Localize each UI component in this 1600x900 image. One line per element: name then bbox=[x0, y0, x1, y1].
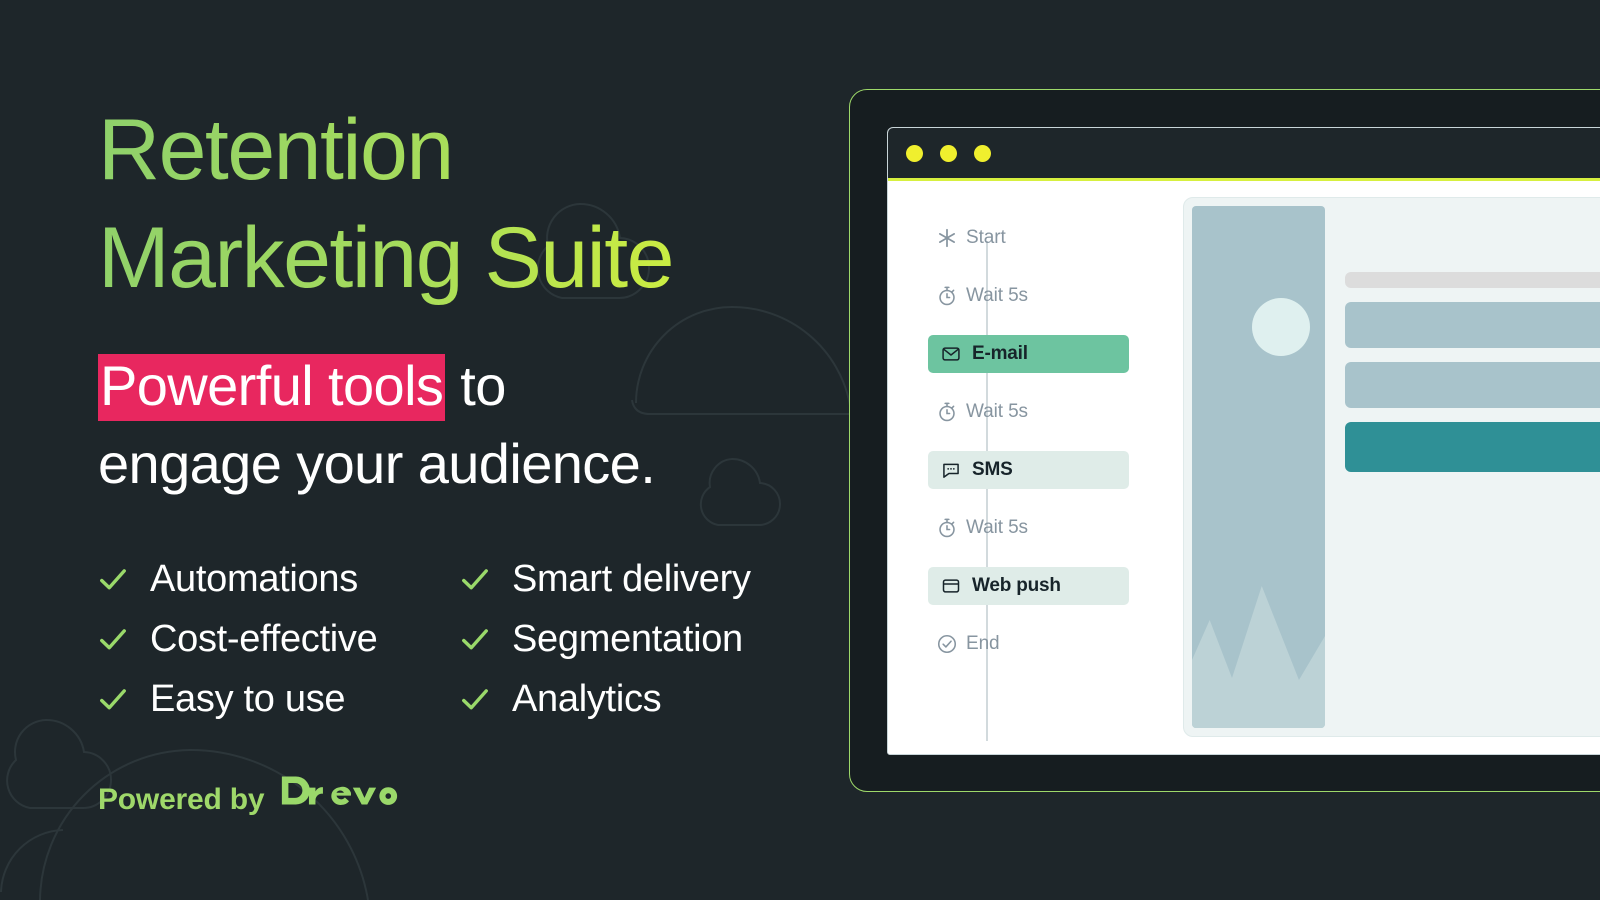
workflow-step-label: SMS bbox=[972, 459, 1013, 481]
stopwatch-icon bbox=[928, 517, 966, 539]
list-item: Cost-effective bbox=[98, 620, 460, 658]
skeleton-text-line bbox=[1345, 272, 1600, 288]
chat-bubble-icon bbox=[936, 460, 966, 480]
check-icon bbox=[98, 564, 128, 594]
workflow-step-wait[interactable]: Wait 5s bbox=[928, 393, 1183, 431]
mountain-image-placeholder bbox=[1192, 206, 1325, 728]
workflow-step-start[interactable]: Start bbox=[928, 219, 1183, 257]
check-icon bbox=[98, 624, 128, 654]
browser-titlebar bbox=[888, 128, 1600, 181]
list-item-label: Segmentation bbox=[512, 620, 743, 658]
workflow-step-wait[interactable]: Wait 5s bbox=[928, 277, 1183, 315]
list-item-label: Automations bbox=[150, 560, 358, 598]
workflow-step-wait[interactable]: Wait 5s bbox=[928, 509, 1183, 547]
stopwatch-icon bbox=[928, 285, 966, 307]
list-item-label: Easy to use bbox=[150, 680, 345, 718]
window-dot-icon[interactable] bbox=[940, 145, 957, 162]
promo-banner: Retention Marketing Suite Powerful tools… bbox=[0, 0, 1600, 900]
list-item: Segmentation bbox=[460, 620, 858, 658]
email-preview-pane bbox=[1183, 197, 1600, 737]
skeleton-content-block bbox=[1345, 302, 1600, 348]
subheadline-rest: to bbox=[445, 354, 505, 417]
page-title: Retention Marketing Suite bbox=[98, 96, 858, 313]
envelope-icon bbox=[936, 344, 966, 364]
app-body: Start Wait 5s E- bbox=[888, 181, 1600, 753]
brevo-logo bbox=[280, 774, 420, 820]
check-icon bbox=[460, 624, 490, 654]
powered-by-label: Powered by bbox=[98, 785, 264, 820]
skeleton-content-block bbox=[1345, 362, 1600, 408]
check-icon bbox=[98, 684, 128, 714]
list-item-label: Smart delivery bbox=[512, 560, 751, 598]
workflow-step-label: Wait 5s bbox=[966, 401, 1028, 423]
workflow-builder: Start Wait 5s E- bbox=[888, 181, 1183, 753]
subheadline-line-2: engage your audience. bbox=[98, 425, 858, 503]
list-item-label: Cost-effective bbox=[150, 620, 377, 658]
workflow-step-sms[interactable]: SMS bbox=[928, 451, 1129, 489]
hero-text-column: Retention Marketing Suite Powerful tools… bbox=[98, 96, 858, 820]
workflow-step-label: Wait 5s bbox=[966, 517, 1028, 539]
workflow-step-web-push[interactable]: Web push bbox=[928, 567, 1129, 605]
list-item: Easy to use bbox=[98, 680, 460, 718]
workflow-step-label: Wait 5s bbox=[966, 285, 1028, 307]
check-icon bbox=[460, 684, 490, 714]
check-icon bbox=[460, 564, 490, 594]
window-dot-icon[interactable] bbox=[906, 145, 923, 162]
list-item: Smart delivery bbox=[460, 560, 858, 598]
workflow-step-label: End bbox=[966, 633, 1000, 655]
headline-line-2: Marketing Suite bbox=[98, 210, 673, 306]
browser-window-icon bbox=[936, 576, 966, 596]
asterisk-icon bbox=[928, 227, 966, 249]
workflow-connector-line bbox=[986, 241, 988, 741]
stopwatch-icon bbox=[928, 401, 966, 423]
list-item: Analytics bbox=[460, 680, 858, 718]
workflow-step-label: E-mail bbox=[972, 343, 1028, 365]
feature-list: Automations Smart delivery Cost-effectiv… bbox=[98, 560, 858, 718]
powered-by-brevo: Powered by bbox=[98, 774, 858, 820]
workflow-step-end[interactable]: End bbox=[928, 625, 1183, 663]
subheadline: Powerful tools to engage your audience. bbox=[98, 347, 858, 503]
check-circle-icon bbox=[928, 633, 966, 655]
window-dot-icon[interactable] bbox=[974, 145, 991, 162]
mountains-shape bbox=[1192, 528, 1325, 728]
headline-line-1: Retention bbox=[98, 102, 453, 198]
workflow-step-label: Start bbox=[966, 227, 1006, 249]
content-skeleton bbox=[1325, 198, 1600, 736]
list-item: Automations bbox=[98, 560, 460, 598]
workflow-step-email[interactable]: E-mail bbox=[928, 335, 1129, 373]
sun-shape bbox=[1252, 298, 1310, 356]
skeleton-cta-button[interactable] bbox=[1345, 422, 1600, 472]
subheadline-highlight: Powerful tools bbox=[98, 354, 445, 421]
brevo-wordmark-icon bbox=[280, 774, 420, 820]
workflow-step-label: Web push bbox=[972, 575, 1061, 597]
browser-window: Start Wait 5s E- bbox=[887, 127, 1600, 755]
list-item-label: Analytics bbox=[512, 680, 661, 718]
